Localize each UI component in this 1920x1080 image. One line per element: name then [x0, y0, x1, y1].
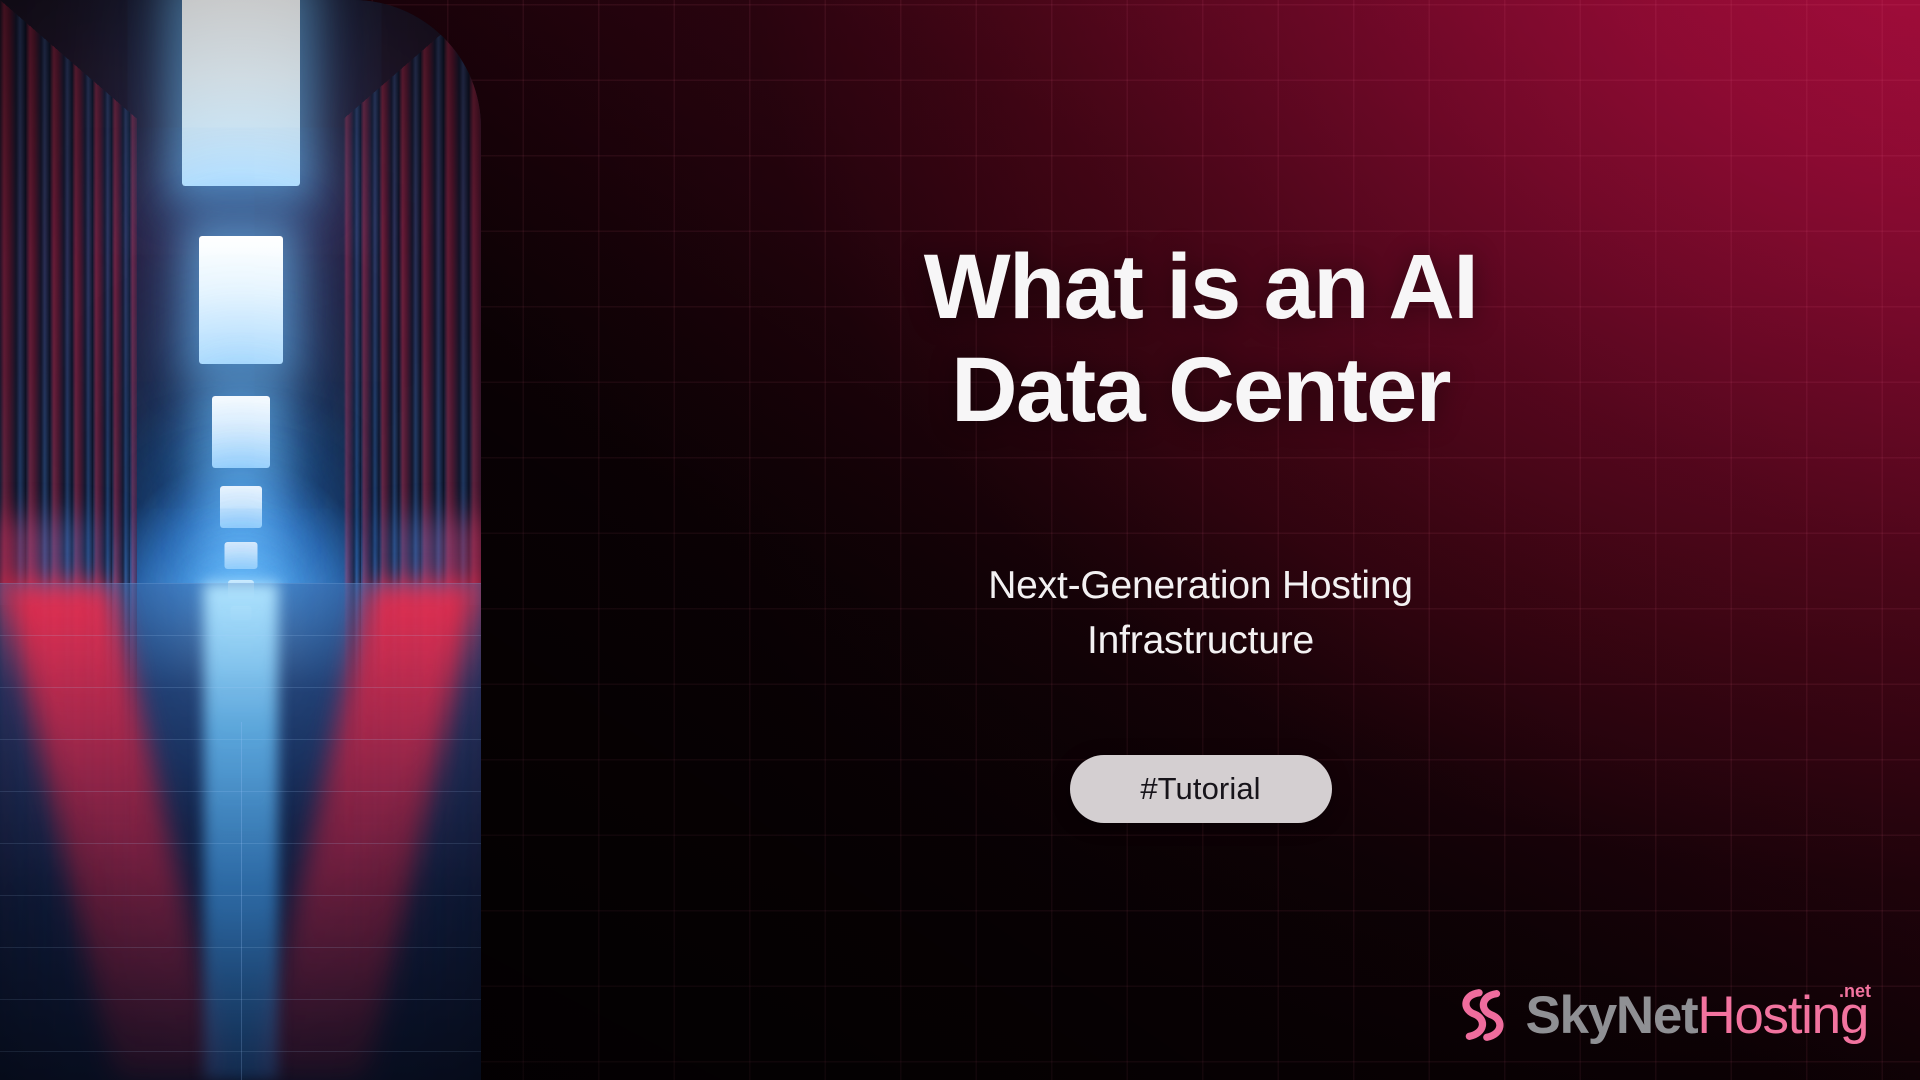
- slide-canvas: What is an AI Data Center Next-Generatio…: [0, 0, 1920, 1080]
- brand-name-part1: SkyNet: [1525, 986, 1697, 1045]
- brand-wordmark: SkyNetHosting.net: [1525, 989, 1868, 1042]
- photo-vignette: [0, 0, 481, 1080]
- data-center-photo: [0, 0, 481, 1080]
- skynet-swirl-icon: [1450, 984, 1512, 1046]
- hero-content: What is an AI Data Center Next-Generatio…: [481, 0, 1920, 1080]
- title-line-1: What is an AI: [924, 236, 1477, 338]
- subtitle-line-1: Next-Generation Hosting: [988, 564, 1413, 607]
- brand-tld: .net: [1839, 982, 1871, 1000]
- page-subtitle: Next-Generation Hosting Infrastructure: [841, 558, 1561, 669]
- page-title: What is an AI Data Center: [781, 236, 1621, 442]
- subtitle-line-2: Infrastructure: [1087, 619, 1314, 662]
- skynethosting-logo[interactable]: SkyNetHosting.net: [1450, 984, 1868, 1046]
- title-line-2: Data Center: [951, 339, 1450, 441]
- badge-label: #Tutorial: [1140, 771, 1260, 807]
- tutorial-tag-badge[interactable]: #Tutorial: [1070, 755, 1332, 823]
